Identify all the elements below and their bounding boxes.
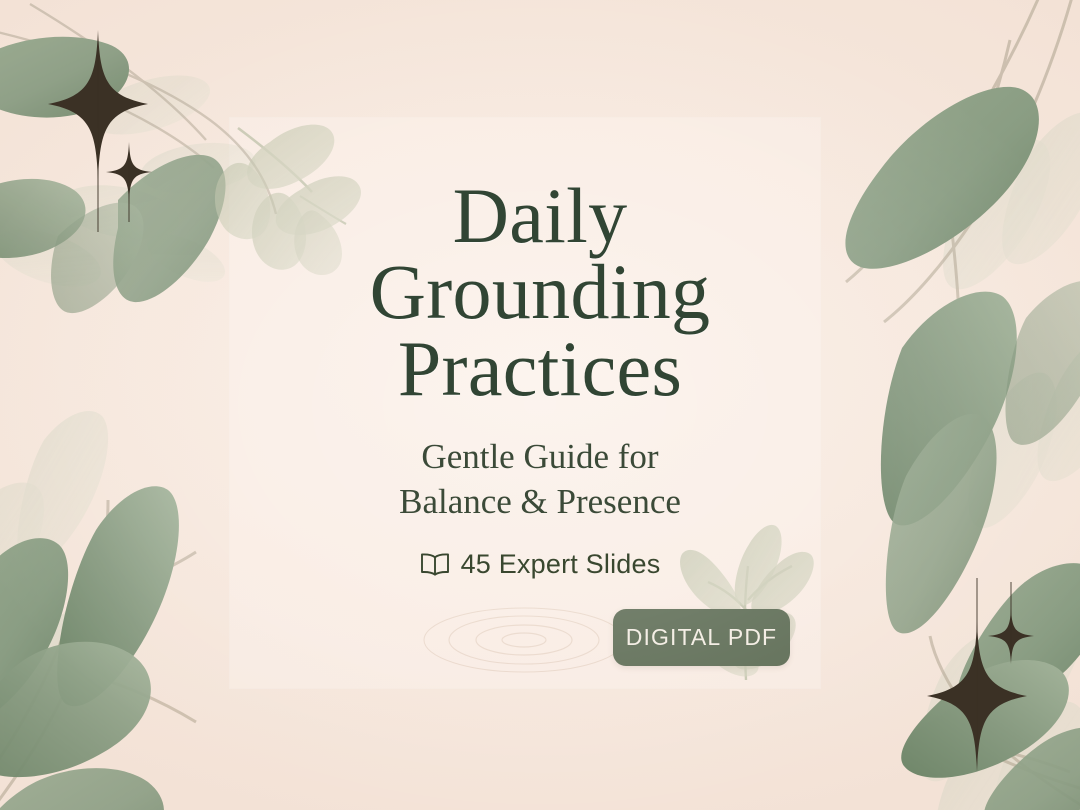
title-line-2: Grounding [230, 254, 850, 330]
poster-canvas: Daily Grounding Practices Gentle Guide f… [0, 0, 1080, 810]
subtitle-line-2: Balance & Presence [220, 480, 860, 525]
title-line-3: Practices [230, 331, 850, 407]
poster-content: Daily Grounding Practices Gentle Guide f… [0, 0, 1080, 810]
slides-count-label: 45 Expert Slides [461, 549, 661, 580]
page-subtitle: Gentle Guide for Balance & Presence [220, 435, 860, 525]
page-title: Daily Grounding Practices [230, 178, 850, 407]
open-book-icon [420, 552, 450, 576]
title-line-1: Daily [230, 178, 850, 254]
subtitle-line-1: Gentle Guide for [220, 435, 860, 480]
slides-count-row: 45 Expert Slides [420, 549, 661, 580]
